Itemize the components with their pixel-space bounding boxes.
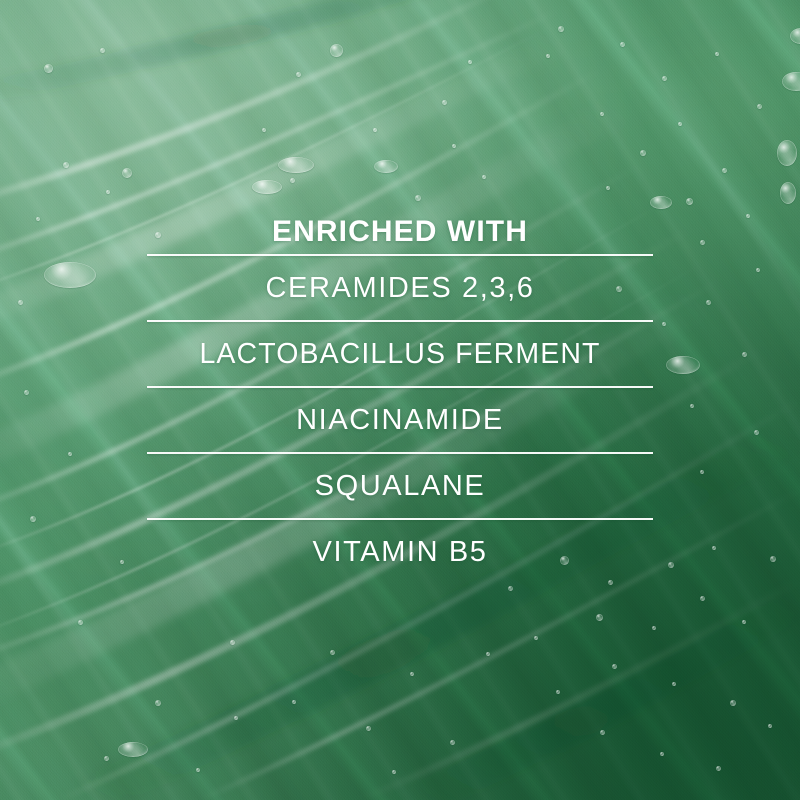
bubble <box>754 430 759 435</box>
bubble <box>415 195 421 201</box>
bubble <box>757 104 762 109</box>
bubble <box>252 180 282 194</box>
bubble <box>768 724 772 728</box>
bubble <box>558 26 564 32</box>
ingredient-list-block: ENRICHED WITH CERAMIDES 2,3,6 LACTOBACIL… <box>147 214 653 584</box>
bubble <box>30 516 36 522</box>
bubble <box>374 160 398 173</box>
bubble <box>508 586 513 591</box>
bubble <box>722 168 727 173</box>
bubble <box>706 300 711 305</box>
bubble <box>366 726 371 731</box>
bubble <box>780 182 796 204</box>
bubble <box>330 650 335 655</box>
bubble <box>662 76 667 81</box>
bubble <box>296 72 301 77</box>
bubble <box>230 640 235 645</box>
bubble <box>410 672 414 676</box>
bubble <box>330 44 343 57</box>
bubble <box>712 546 716 550</box>
bubble <box>770 556 776 562</box>
bubble <box>155 700 161 706</box>
divider-rule-2 <box>147 320 653 322</box>
bubble <box>78 620 83 625</box>
bubble <box>104 756 109 761</box>
bubble <box>468 60 472 64</box>
divider-rule-4 <box>147 452 653 454</box>
page-title: ENRICHED WITH <box>147 214 653 254</box>
bubble <box>262 128 266 132</box>
list-item: VITAMIN B5 <box>147 520 653 584</box>
product-ingredient-panel: ENRICHED WITH CERAMIDES 2,3,6 LACTOBACIL… <box>0 0 800 800</box>
list-item: LACTOBACILLUS FERMENT <box>147 322 653 386</box>
bubble <box>106 190 110 194</box>
bubble <box>756 268 760 272</box>
bubble <box>292 700 296 704</box>
bubble <box>652 626 656 630</box>
bubble <box>600 730 605 735</box>
list-item: NIACINAMIDE <box>147 388 653 452</box>
bubble <box>668 562 674 568</box>
divider-rule-5 <box>147 518 653 520</box>
bubble <box>290 178 295 183</box>
bubble <box>742 620 746 624</box>
bubble <box>686 198 693 205</box>
bubble <box>716 766 721 771</box>
bubble <box>118 742 148 757</box>
bubble <box>746 214 750 218</box>
bubble <box>452 144 456 148</box>
bubble <box>700 240 705 245</box>
bubble <box>120 560 124 564</box>
bubble <box>777 140 797 166</box>
bubble <box>596 614 603 621</box>
bubble <box>650 196 672 209</box>
bubble <box>678 122 682 126</box>
bubble <box>450 740 455 745</box>
bubble <box>700 596 705 601</box>
bubble <box>392 770 396 774</box>
bubble <box>660 752 664 756</box>
bubble <box>782 72 800 91</box>
bubble <box>672 682 676 686</box>
list-item: CERAMIDES 2,3,6 <box>147 256 653 320</box>
bubble <box>482 175 486 179</box>
bubble <box>715 52 719 56</box>
bubble <box>620 42 625 47</box>
bubble <box>700 470 704 474</box>
bubble <box>742 352 747 357</box>
divider-rule-1 <box>147 254 653 256</box>
bubble <box>546 54 550 58</box>
bubble <box>44 64 53 73</box>
bubble <box>486 652 490 656</box>
bubble <box>122 168 132 178</box>
bubble <box>534 636 538 640</box>
bubble <box>666 356 700 374</box>
bubble <box>63 162 69 168</box>
bubble <box>442 100 447 105</box>
bubble <box>606 186 610 190</box>
bubble <box>600 112 604 116</box>
bubble <box>662 322 666 326</box>
divider-rule-3 <box>147 386 653 388</box>
bubble <box>68 452 72 456</box>
bubble <box>234 716 238 720</box>
bubble <box>278 157 314 173</box>
bubble <box>36 217 40 221</box>
bubble <box>24 390 29 395</box>
bubble <box>196 768 200 772</box>
bubble <box>44 262 96 288</box>
bubble <box>556 690 560 694</box>
list-item: SQUALANE <box>147 454 653 518</box>
bubble <box>18 300 23 305</box>
bubble <box>640 150 646 156</box>
ingredient-list: CERAMIDES 2,3,6 LACTOBACILLUS FERMENT NI… <box>147 256 653 584</box>
bubble <box>100 48 105 53</box>
bubble <box>612 664 617 669</box>
bubble <box>730 700 736 706</box>
bubble <box>790 28 800 44</box>
bubble <box>690 404 694 408</box>
bubble <box>373 128 377 132</box>
